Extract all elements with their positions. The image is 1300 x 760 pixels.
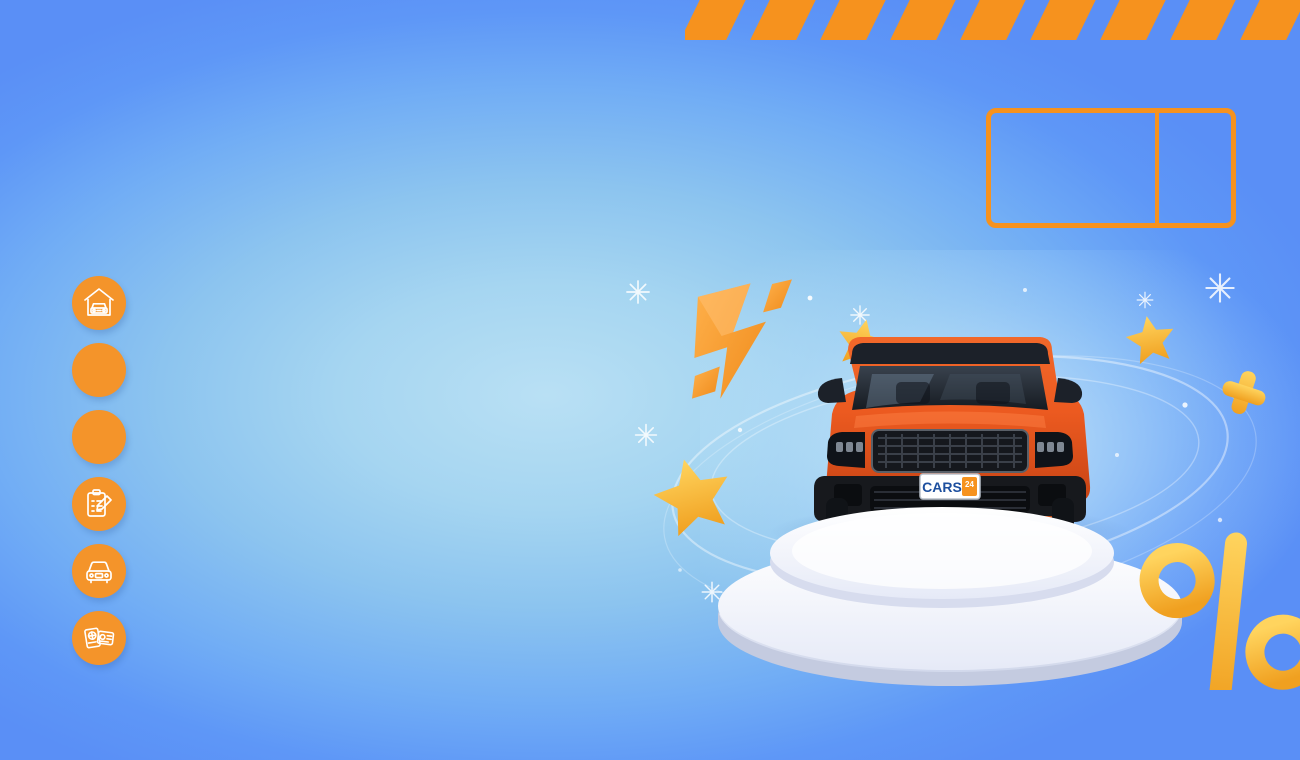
feature-item: [72, 343, 148, 397]
svg-text:24: 24: [965, 480, 974, 489]
svg-text:CARS: CARS: [922, 479, 962, 495]
stripe: [685, 0, 753, 40]
lightning-bolt-icon: [677, 276, 807, 402]
license-plate: CARS 24: [920, 474, 980, 499]
stripe: [1087, 0, 1172, 40]
logo-hatch-stripes: [1153, 179, 1236, 223]
hero-illustration: CARS 24: [620, 270, 1300, 690]
logo-word-box: [991, 113, 1159, 223]
home-car-icon: [72, 276, 126, 330]
feature-item: [72, 477, 148, 531]
stripe: [1157, 0, 1242, 40]
feature-item: [72, 611, 148, 665]
hero-scene-svg: CARS 24: [620, 270, 1300, 690]
stripe-band-top: [685, 0, 1300, 40]
percent-sign-icon: [1141, 518, 1300, 690]
stripe: [947, 0, 1032, 40]
plus-sign-icon: [1216, 365, 1271, 420]
cars24-logo: [986, 108, 1236, 228]
stripe: [1017, 0, 1102, 40]
feature-item: [72, 276, 148, 330]
stripe: [1227, 0, 1300, 40]
stripe: [737, 0, 822, 40]
feature-item: [72, 544, 148, 598]
documents-cards-icon: [72, 611, 126, 665]
car-front-icon: [72, 544, 126, 598]
feature-item: [72, 410, 148, 464]
clipboard-pen-icon: [72, 477, 126, 531]
star-icon-right: [1123, 312, 1178, 366]
seven-number-icon: [72, 410, 126, 464]
feature-list: [72, 276, 148, 678]
promo-banner: CARS 24: [0, 0, 1300, 760]
stripe: [877, 0, 962, 40]
stripe: [807, 0, 892, 40]
star-icon-left-large: [647, 450, 738, 539]
logo-number-box: [1159, 113, 1231, 223]
zero-number-icon: [72, 343, 126, 397]
